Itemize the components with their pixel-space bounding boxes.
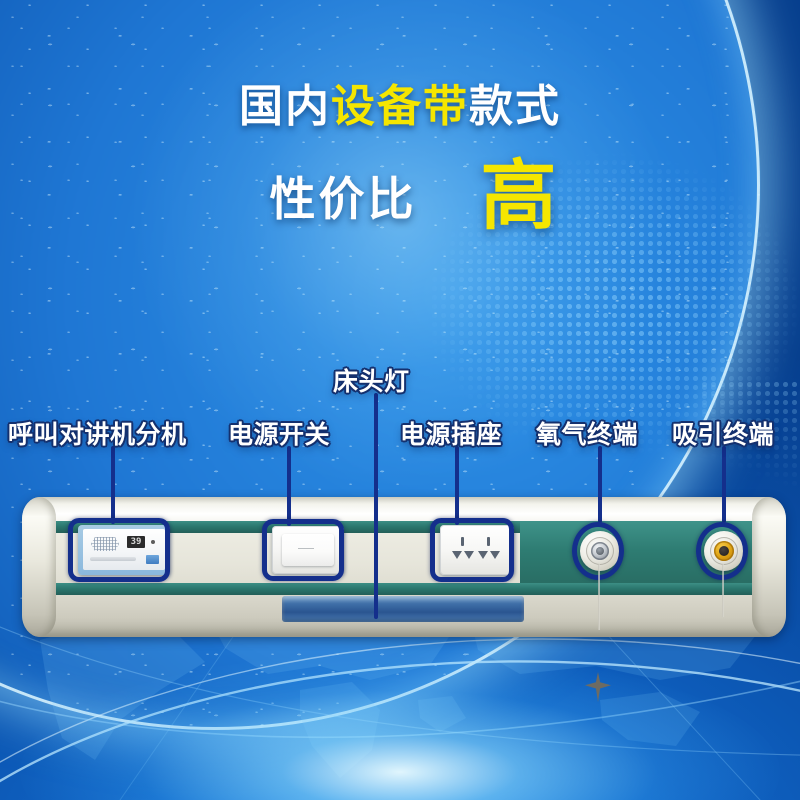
panel-endcap-right [752,497,786,637]
leader-line-intercom [111,446,115,524]
callout-label-suction-terminal: 吸引终端 [672,415,774,451]
headline-line-2: 性价比 高 [0,161,800,231]
bedside-lamp-diffuser [282,596,524,622]
leader-line-suction [722,446,726,523]
callout-label-bedside-lamp: 床头灯 [333,362,410,398]
panel-endcap-left [22,497,56,637]
callout-label-oxygen-terminal: 氧气终端 [536,415,638,451]
headline-seg-1: 国内 [239,81,331,132]
panel-stripe-bottom [22,583,786,595]
callout-label-power-switch: 电源开关 [228,415,330,451]
leader-line-power-switch [287,446,291,526]
suction-terminal-cord [722,564,724,617]
callout-label-power-socket: 电源插座 [400,415,502,451]
headline-emphasis: 高 [481,161,557,231]
headline-line-1: 国内设备带款式 [0,82,800,131]
highlight-box-power-switch [262,519,344,581]
headline-seg-3: 款式 [469,81,561,132]
highlight-box-power-socket [430,518,514,582]
callout-label-intercom: 呼叫对讲机分机 [8,415,187,451]
leader-line-bedside-lamp [374,393,378,619]
leader-line-oxygen [598,446,602,523]
highlight-box-intercom [68,518,170,582]
headline-block: 国内设备带款式 性价比 高 [0,82,800,231]
headline-seg-2: 设备带 [331,81,469,132]
headline-subtitle: 性价比 [270,163,417,229]
leader-line-power-socket [455,446,459,525]
oxygen-terminal-cord [598,564,600,630]
